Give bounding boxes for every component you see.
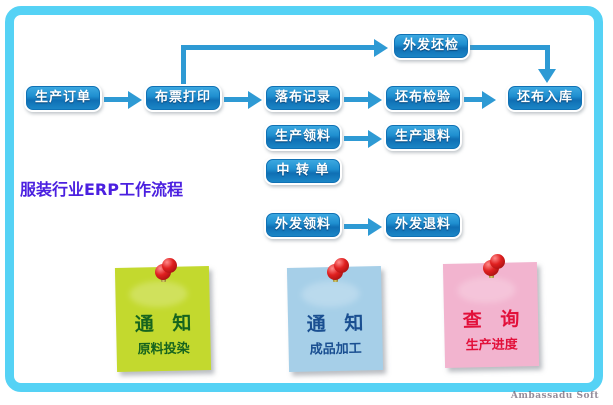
note-subtext: 成品加工: [289, 342, 383, 357]
connector-luobu-to-peibu: [344, 97, 370, 102]
pushpin-bead-front: [490, 254, 505, 269]
flow-node-label: 外发退料: [386, 213, 460, 237]
connector-peibu-to-ruku: [464, 97, 484, 102]
pushpin-icon: [482, 254, 508, 278]
flow-node-luobu-jilu[interactable]: 落布记录: [264, 84, 342, 112]
flow-node-waifa-lingliao[interactable]: 外发领料: [264, 211, 342, 239]
arrow-into-peibu-ruku: [482, 91, 496, 109]
arrow-into-waifa-peijian: [374, 39, 388, 57]
note-gloss: [301, 280, 360, 307]
flow-node-label: 坯布检验: [386, 86, 460, 110]
connector-shengchan-lingliao-to-tuiliao: [344, 136, 370, 141]
diagram-title: 服装行业ERP工作流程: [20, 176, 183, 200]
arrow-into-bupiao-dayin: [128, 91, 142, 109]
sticky-note-shengchan-jindu[interactable]: 查 询 生产进度: [444, 263, 538, 367]
connector-waifa-to-ruku-vertical: [545, 45, 550, 71]
watermark-text: Ambassadu Soft: [511, 391, 599, 401]
sticky-note-yuanliao-touran[interactable]: 通 知 原料投染: [116, 267, 210, 371]
arrow-into-waifa-tuiliao: [368, 218, 382, 236]
pushpin-icon: [326, 258, 352, 282]
arrow-down-into-peibu-ruku: [538, 69, 556, 83]
flow-node-waifa-tuiliao[interactable]: 外发退料: [384, 211, 462, 239]
flow-node-label: 坯布入库: [508, 86, 582, 110]
sticky-note-chengpin-jiagong[interactable]: 通 知 成品加工: [288, 267, 382, 371]
flow-node-shengchan-lingliao[interactable]: 生产领料: [264, 123, 342, 151]
note-gloss: [129, 280, 188, 307]
note-subtext: 原料投染: [117, 342, 211, 357]
pushpin-icon: [154, 258, 180, 282]
connector-waifa-lingliao-to-tuiliao: [344, 224, 370, 229]
connector-dingdan-to-bupiao: [104, 97, 130, 102]
note-heading: 通 知: [116, 314, 210, 335]
pushpin-bead-front: [334, 258, 349, 273]
flow-node-label: 外发领料: [266, 213, 340, 237]
flow-node-zhongzhuan-dan[interactable]: 中 转 单: [264, 157, 342, 185]
flow-node-label: 生产领料: [266, 125, 340, 149]
flow-node-peibu-ruku[interactable]: 坯布入库: [506, 84, 584, 112]
note-heading: 查 询: [444, 310, 538, 331]
note-subtext: 生产进度: [445, 338, 539, 353]
flow-node-shengchan-tuiliao[interactable]: 生产退料: [384, 123, 462, 151]
flow-node-bupiao-dayin[interactable]: 布票打印: [144, 84, 222, 112]
arrow-into-luobu-jilu: [248, 91, 262, 109]
pushpin-bead-front: [162, 258, 177, 273]
note-heading: 通 知: [288, 314, 382, 335]
flow-node-peibu-jianyan[interactable]: 坯布检验: [384, 84, 462, 112]
flow-node-label: 外发坯检: [394, 34, 468, 58]
flow-node-label: 生产订单: [26, 86, 100, 110]
note-gloss: [457, 276, 516, 303]
arrow-into-shengchan-tuiliao: [368, 130, 382, 148]
connector-waifa-to-ruku-horizontal: [470, 45, 550, 50]
arrow-into-peibu-jianyan: [368, 91, 382, 109]
diagram-canvas: 外发坯检 生产订单 布票打印 落布记录 坯布检验 坯布入库 生产领料 生产退料 …: [0, 0, 613, 405]
flow-node-label: 生产退料: [386, 125, 460, 149]
connector-bupiao-to-waifa-horizontal: [181, 45, 376, 50]
connector-bupiao-to-luobu: [224, 97, 250, 102]
flow-node-label: 布票打印: [146, 86, 220, 110]
flow-node-label: 落布记录: [266, 86, 340, 110]
flow-node-shengchan-dingdan[interactable]: 生产订单: [24, 84, 102, 112]
flow-node-label: 中 转 单: [266, 159, 340, 183]
flow-node-waifa-peijian[interactable]: 外发坯检: [392, 32, 470, 60]
